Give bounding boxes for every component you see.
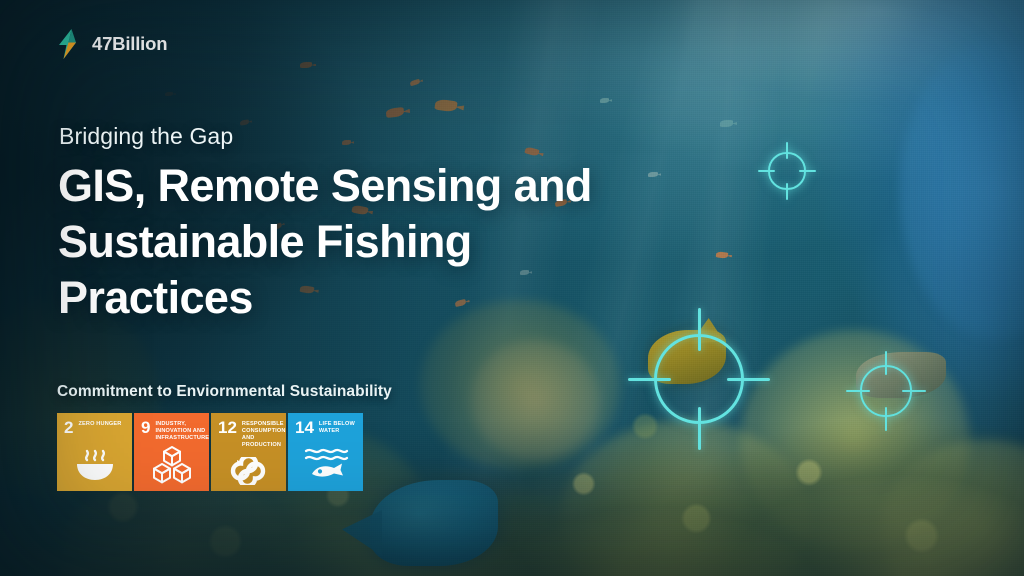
sdg-badge-header: 12 Responsible Consumption and Productio… [218, 420, 280, 450]
sdg-title: Life Below Water [319, 420, 357, 435]
sdg-badge-9[interactable]: 9 Industry, Innovation and Infrastructur… [134, 413, 209, 491]
sdg-badge-14[interactable]: 14 Life Below Water [288, 413, 363, 491]
brand-name: 47Billion [92, 33, 167, 55]
commitment-label: Commitment to Enviornmental Sustainabili… [57, 383, 392, 401]
sdg-badge-header: 14 Life Below Water [295, 420, 357, 435]
sdg-badge-header: 2 Zero Hunger [64, 420, 126, 435]
sdg-badge-2[interactable]: 2 Zero Hunger [57, 413, 132, 491]
sdg-badge-row: 2 Zero Hunger 9 Industry, Innovation a [57, 413, 363, 491]
hero-eyebrow: Bridging the Gap [59, 123, 233, 150]
cubes-icon [134, 444, 209, 486]
sdg-number: 14 [295, 420, 314, 435]
sdg-title: Zero Hunger [78, 420, 121, 428]
sdg-number: 9 [141, 420, 150, 435]
sdg-number: 12 [218, 420, 237, 435]
lightning-bolt-icon [57, 29, 83, 59]
bowl-steam-icon [57, 444, 132, 486]
page-title: GIS, Remote Sensing and Sustainable Fish… [58, 158, 658, 325]
brand-logo[interactable]: 47Billion [57, 29, 167, 59]
sdg-badge-12[interactable]: 12 Responsible Consumption and Productio… [211, 413, 286, 491]
sdg-badge-header: 9 Industry, Innovation and Infrastructur… [141, 420, 203, 442]
sdg-title: Responsible Consumption and Production [242, 420, 286, 450]
presentation-slide: 47Billion Bridging the Gap GIS, Remote S… [0, 0, 1024, 576]
fish-waves-icon [288, 444, 363, 486]
sdg-number: 2 [64, 420, 73, 435]
sdg-title: Industry, Innovation and Infrastructure [155, 420, 209, 442]
infinity-arrow-icon [211, 454, 286, 488]
